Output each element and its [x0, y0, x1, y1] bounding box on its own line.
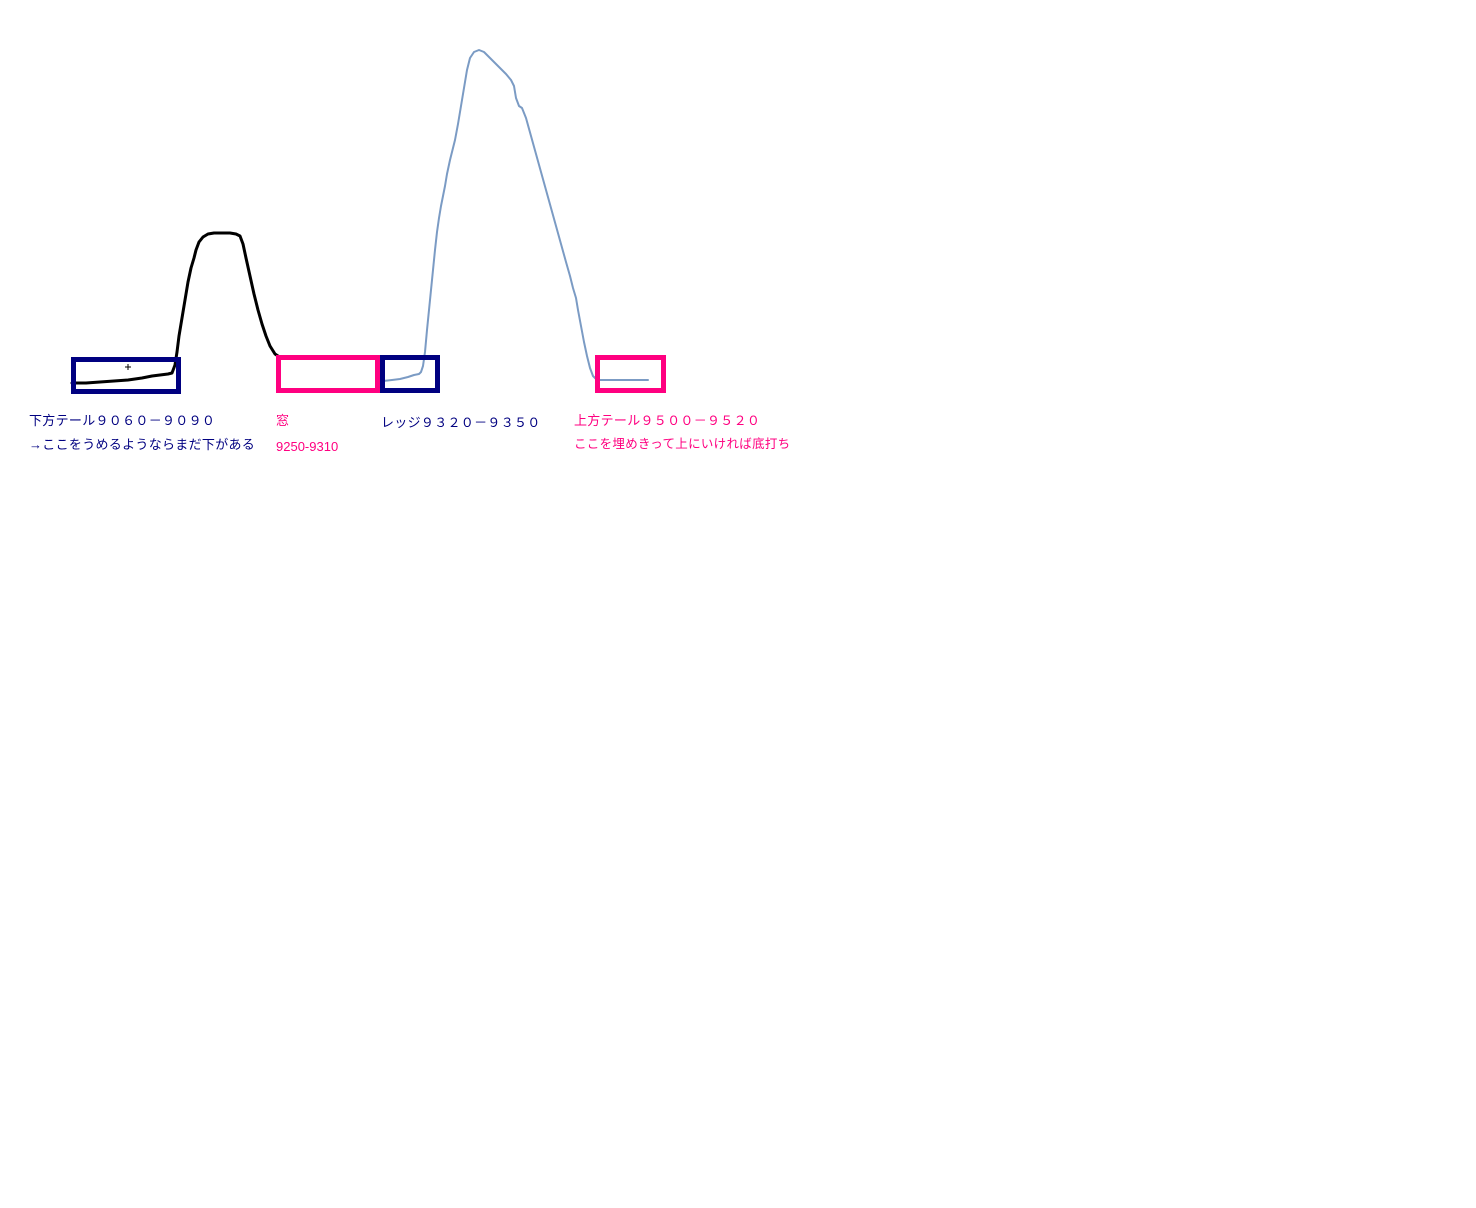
annotation-label-lower-tail: 下方テール９０６０－９０９０ →ここをうめるようならまだ下がある: [29, 413, 255, 452]
annotation-label-upper-tail: 上方テール９５００－９５２０ ここを埋めきって上にいければ底打ち: [574, 413, 790, 452]
lower-tail-note: →ここをうめるようならまだ下がある: [29, 437, 255, 452]
lower-tail-title: 下方テール９０６０－９０９０: [29, 413, 215, 428]
window-range: 9250-9310: [276, 439, 338, 454]
ledge-title: レッジ９３２０－９３５０: [381, 415, 541, 430]
annotation-label-ledge: レッジ９３２０－９３５０: [381, 415, 541, 430]
upper-tail-note: ここを埋めきって上にいければ底打ち: [574, 437, 790, 452]
window-title: 窓: [276, 413, 289, 428]
chart-canvas: [0, 0, 1476, 1208]
chart-background: [0, 0, 1476, 1208]
annotation-label-window: 窓 9250-9310: [276, 413, 338, 454]
upper-tail-title: 上方テール９５００－９５２０: [574, 413, 760, 428]
